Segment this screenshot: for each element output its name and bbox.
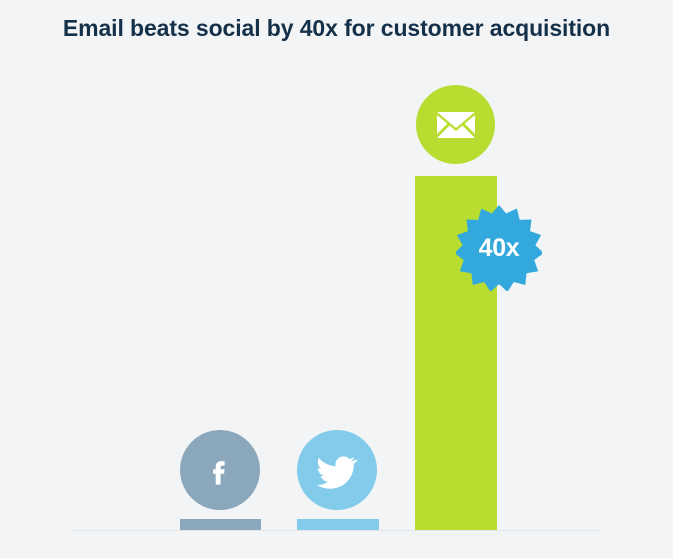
- twitter-icon: [315, 448, 359, 492]
- facebook-icon: [202, 452, 238, 488]
- envelope-icon: [436, 110, 476, 140]
- bubble-facebook: [180, 430, 260, 510]
- infographic-chart: Email beats social by 40x for customer a…: [0, 0, 673, 558]
- bar-facebook: [180, 519, 261, 530]
- bubble-twitter: [297, 430, 377, 510]
- bubble-email: [416, 85, 495, 164]
- plot-area: 40x: [0, 0, 673, 558]
- bar-twitter: [297, 519, 379, 530]
- x-axis-line: [72, 530, 600, 531]
- status-badge: [456, 205, 542, 291]
